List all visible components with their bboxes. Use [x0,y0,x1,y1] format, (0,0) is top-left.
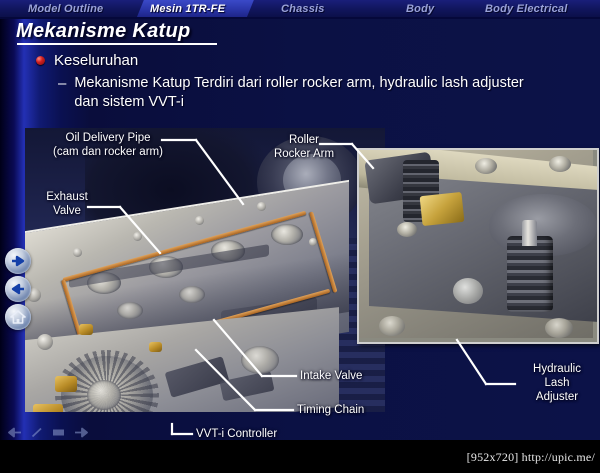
dash-marker: – [58,74,66,112]
watermark-url: http://upic.me/ [522,450,595,464]
bullet-level2-label: Mekanisme Katup Terdiri dari roller rock… [74,74,528,112]
bullet-level1-label: Keseluruhan [54,52,138,69]
home-button[interactable] [5,304,31,330]
top-navigation-bar: Model Outline Mesin 1TR-FE Chassis Body … [0,0,600,19]
slide-body: Model Outline Mesin 1TR-FE Chassis Body … [0,0,600,440]
presentation-slide: Model Outline Mesin 1TR-FE Chassis Body … [0,0,600,473]
arrow-left-icon [10,281,26,297]
nav-tab-body[interactable]: Body [406,0,434,19]
pen-tool-button[interactable] [31,425,43,440]
forward-button[interactable] [5,248,31,274]
nav-tab-chassis[interactable]: Chassis [281,0,325,19]
nav-tab-model-outline[interactable]: Model Outline [28,0,103,19]
leader-hydraulic-lash-adjuster-2 [457,340,486,384]
nav-tab-body-electrical[interactable]: Body Electrical [485,0,567,19]
arrow-left-icon [8,427,22,438]
callout-roller-rocker-arm: Roller Rocker Arm [258,133,350,161]
callout-exhaust-valve: Exhaust Valve [28,190,106,218]
arrow-right-icon [74,427,88,438]
slide-control-bar [0,421,600,440]
next-slide-button[interactable] [74,425,88,440]
square-icon [52,427,65,438]
watermark-dimensions: [952x720] [467,450,519,464]
callout-intake-valve: Intake Valve [300,369,410,383]
bullet-dot-icon [36,56,45,65]
previous-slide-button[interactable] [8,425,22,440]
watermark: [952x720] http://upic.me/ [467,450,595,465]
page-title: Mekanisme Katup [16,20,191,43]
bullet-item-description: – Mekanisme Katup Terdiri dari roller ro… [58,74,528,112]
title-underline [17,43,217,45]
callout-hydraulic-lash-adjuster: Hydraulic Lash Adjuster [519,362,595,404]
nav-tab-mesin-1tr-fe[interactable]: Mesin 1TR-FE [150,0,225,19]
home-icon [10,309,26,325]
callout-timing-chain: Timing Chain [297,403,407,417]
valve-mechanism-closeup-photo [357,148,599,344]
back-button[interactable] [5,276,31,302]
arrow-right-icon [10,253,26,269]
callout-oil-delivery-pipe: Oil Delivery Pipe (cam dan rocker arm) [28,131,188,159]
bullet-item-keseluruhan: Keseluruhan [36,52,138,69]
pen-icon [31,427,43,438]
slide-menu-button[interactable] [52,425,65,440]
